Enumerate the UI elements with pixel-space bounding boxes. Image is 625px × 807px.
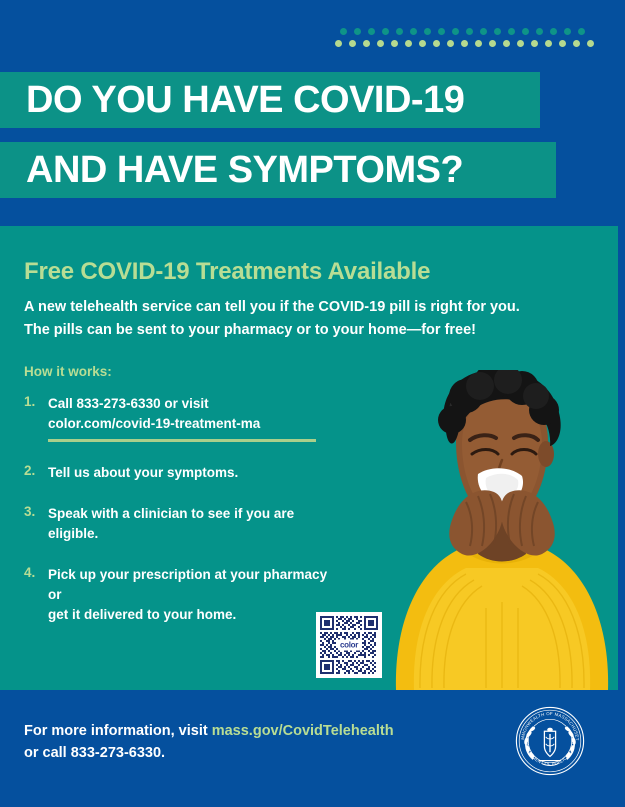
decorative-dot bbox=[433, 40, 440, 47]
decorative-dot bbox=[377, 40, 384, 47]
decorative-dot bbox=[522, 28, 529, 35]
step-text-line-1: Pick up your prescription at your pharma… bbox=[48, 565, 334, 605]
step-item: 3.Speak with a clinician to see if you a… bbox=[24, 504, 334, 544]
decorative-dot bbox=[587, 40, 594, 47]
decorative-dot bbox=[508, 28, 515, 35]
decorative-dot bbox=[335, 40, 342, 47]
decorative-dot bbox=[480, 28, 487, 35]
decorative-dot bbox=[536, 28, 543, 35]
dot-row-green bbox=[335, 40, 601, 47]
footer-contact-text: For more information, visit mass.gov/Cov… bbox=[24, 720, 454, 765]
decorative-dot bbox=[354, 28, 361, 35]
decorative-dot bbox=[405, 40, 412, 47]
decorative-dot bbox=[545, 40, 552, 47]
decorative-dot bbox=[452, 28, 459, 35]
decorative-dot bbox=[340, 28, 347, 35]
step-body: Speak with a clinician to see if you are… bbox=[48, 504, 334, 544]
step-text-line-1: Tell us about your symptoms. bbox=[48, 463, 238, 483]
decorative-dot bbox=[475, 40, 482, 47]
dot-row-teal bbox=[340, 28, 601, 35]
decorative-dot bbox=[349, 40, 356, 47]
header-dot-pattern bbox=[340, 28, 601, 47]
step-number: 3. bbox=[24, 504, 48, 544]
step-text-line-2[interactable]: color.com/covid-19-treatment-ma bbox=[48, 414, 316, 434]
photo-illustration bbox=[386, 370, 618, 690]
step-body: Pick up your prescription at your pharma… bbox=[48, 565, 334, 625]
decorative-dot bbox=[531, 40, 538, 47]
decorative-dot bbox=[503, 40, 510, 47]
decorative-dot bbox=[578, 28, 585, 35]
decorative-dot bbox=[438, 28, 445, 35]
decorative-dot bbox=[447, 40, 454, 47]
step-underline bbox=[48, 439, 316, 442]
step-item: 2.Tell us about your symptoms. bbox=[24, 463, 334, 483]
decorative-dot bbox=[494, 28, 501, 35]
photo-woman-sneezing bbox=[386, 226, 618, 690]
steps-list: 1.Call 833-273-6330 or visitcolor.com/co… bbox=[24, 394, 334, 646]
decorative-dot bbox=[396, 28, 403, 35]
step-item: 4.Pick up your prescription at your phar… bbox=[24, 565, 334, 625]
step-item: 1.Call 833-273-6330 or visitcolor.com/co… bbox=[24, 394, 334, 442]
decorative-dot bbox=[550, 28, 557, 35]
main-content-panel: Free COVID-19 Treatments Available A new… bbox=[0, 226, 618, 690]
how-it-works-label: How it works: bbox=[24, 364, 112, 379]
seal-illustration: COMMONWEALTH OF MASSACHUSETTS DEPARTMENT… bbox=[515, 706, 585, 776]
decorative-dot bbox=[461, 40, 468, 47]
footer-line-2: or call 833-273-6330. bbox=[24, 742, 454, 764]
step-number: 2. bbox=[24, 463, 48, 483]
step-body: Tell us about your symptoms. bbox=[48, 463, 238, 483]
step-number: 4. bbox=[24, 565, 48, 625]
qr-logo-text: color bbox=[338, 640, 360, 651]
step-text-line-1: Speak with a clinician to see if you are… bbox=[48, 504, 334, 544]
panel-heading: Free COVID-19 Treatments Available bbox=[24, 258, 430, 286]
decorative-dot bbox=[517, 40, 524, 47]
decorative-dot bbox=[419, 40, 426, 47]
decorative-dot bbox=[489, 40, 496, 47]
step-text-line-2: get it delivered to your home. bbox=[48, 605, 334, 625]
step-number: 1. bbox=[24, 394, 48, 442]
footer-website-link[interactable]: mass.gov/CovidTelehealth bbox=[212, 723, 394, 739]
decorative-dot bbox=[382, 28, 389, 35]
massachusetts-dph-seal-icon: COMMONWEALTH OF MASSACHUSETTS DEPARTMENT… bbox=[515, 706, 585, 776]
decorative-dot bbox=[466, 28, 473, 35]
step-body: Call 833-273-6330 or visitcolor.com/covi… bbox=[48, 394, 316, 442]
decorative-dot bbox=[368, 28, 375, 35]
headline-line-2: AND HAVE SYMPTOMS? bbox=[0, 142, 556, 198]
decorative-dot bbox=[363, 40, 370, 47]
headline-line-1: DO YOU HAVE COVID-19 bbox=[0, 72, 540, 128]
decorative-dot bbox=[410, 28, 417, 35]
step-text-line-1: Call 833-273-6330 or visit bbox=[48, 394, 316, 414]
decorative-dot bbox=[391, 40, 398, 47]
footer-prefix: For more information, visit bbox=[24, 723, 212, 739]
decorative-dot bbox=[424, 28, 431, 35]
decorative-dot bbox=[564, 28, 571, 35]
decorative-dot bbox=[573, 40, 580, 47]
decorative-dot bbox=[559, 40, 566, 47]
qr-code[interactable]: color bbox=[316, 612, 382, 678]
footer-line-1: For more information, visit mass.gov/Cov… bbox=[24, 720, 454, 742]
poster-canvas: DO YOU HAVE COVID-19 AND HAVE SYMPTOMS? … bbox=[0, 0, 625, 807]
